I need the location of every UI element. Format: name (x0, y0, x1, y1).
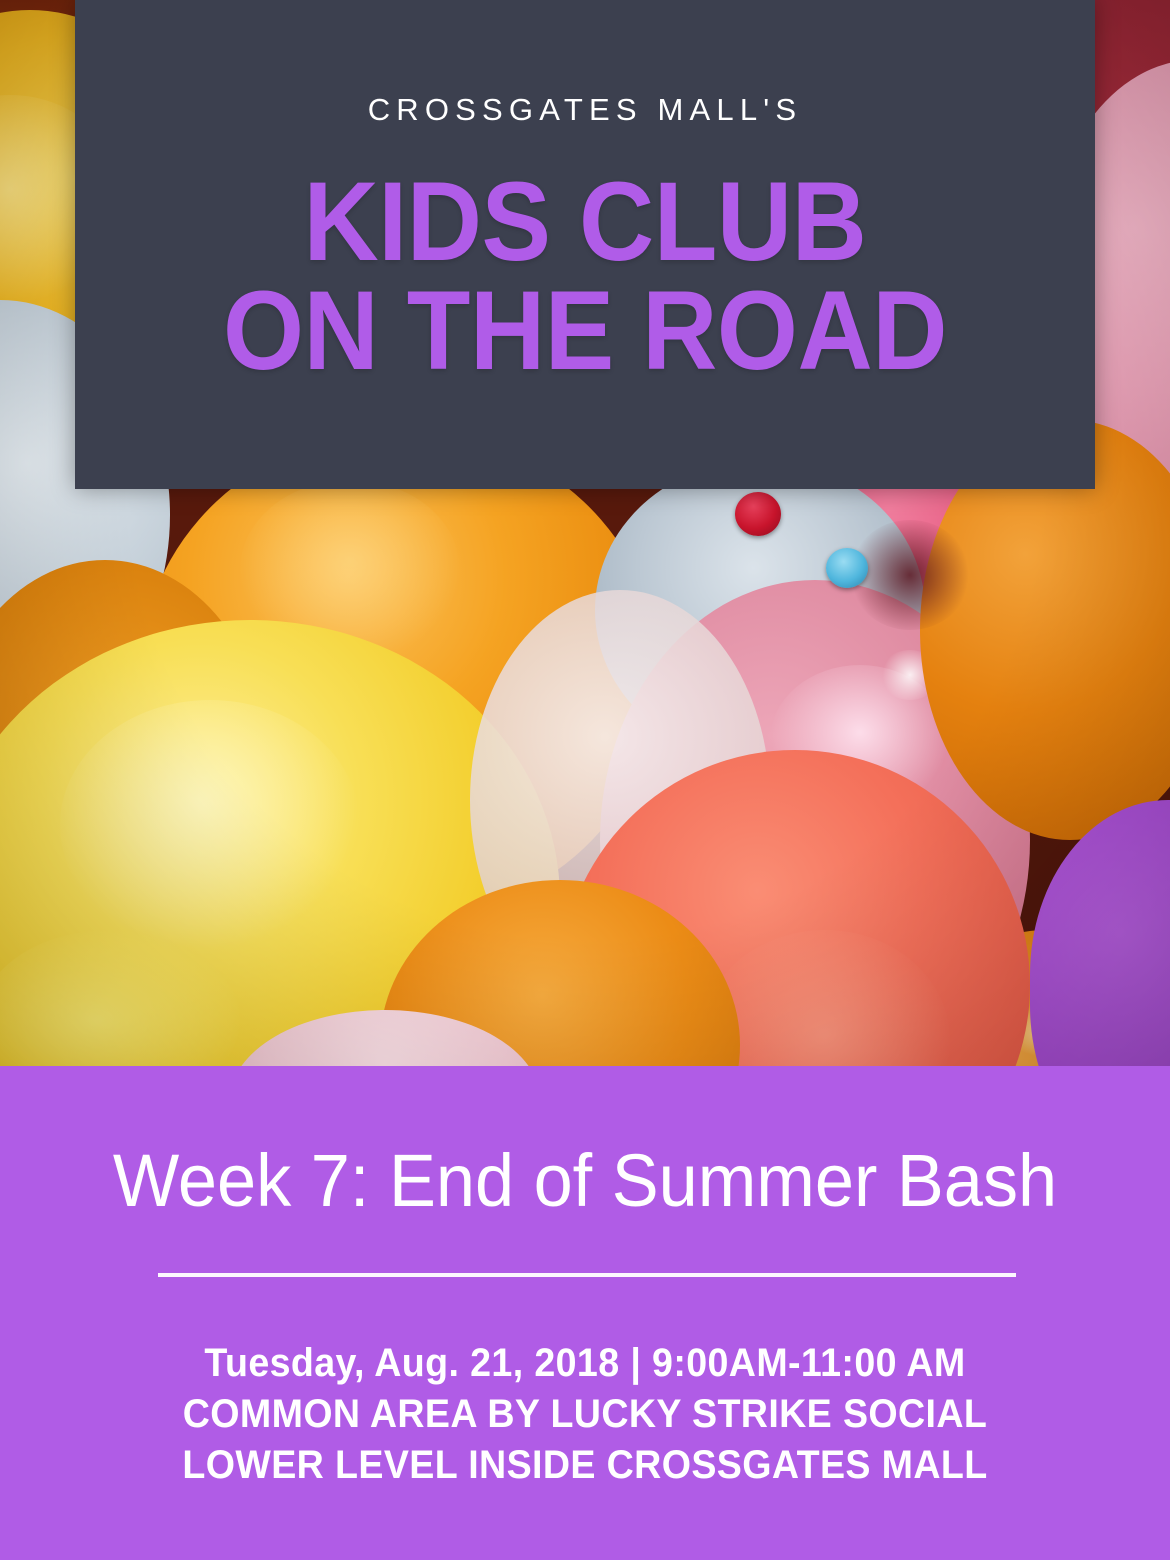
detail-line-location: COMMON AREA BY LUCKY STRIKE SOCIAL (35, 1389, 1135, 1440)
title-panel: CROSSGATES MALL'S KIDS CLUB ON THE ROAD (75, 0, 1095, 489)
poster-root: CROSSGATES MALL'S KIDS CLUB ON THE ROAD … (0, 0, 1170, 1560)
footer-band: Week 7: End of Summer Bash Tuesday, Aug.… (0, 1066, 1170, 1560)
detail-line-datetime: Tuesday, Aug. 21, 2018 | 9:00AM-11:00 AM (35, 1338, 1135, 1389)
shadow-gap-upper-right (850, 520, 970, 630)
event-subtitle: Week 7: End of Summer Bash (29, 1144, 1141, 1218)
page-title: KIDS CLUB ON THE ROAD (111, 168, 1060, 385)
headline-line-2: ON THE ROAD (111, 277, 1060, 386)
headline-line-1: KIDS CLUB (111, 168, 1060, 277)
eyebrow-text: CROSSGATES MALL'S (75, 94, 1095, 125)
red-knot (735, 492, 781, 536)
divider-rule (158, 1273, 1016, 1277)
event-details: Tuesday, Aug. 21, 2018 | 9:00AM-11:00 AM… (35, 1338, 1135, 1491)
blue-knot (826, 548, 868, 588)
detail-line-venue: LOWER LEVEL INSIDE CROSSGATES MALL (35, 1440, 1135, 1491)
